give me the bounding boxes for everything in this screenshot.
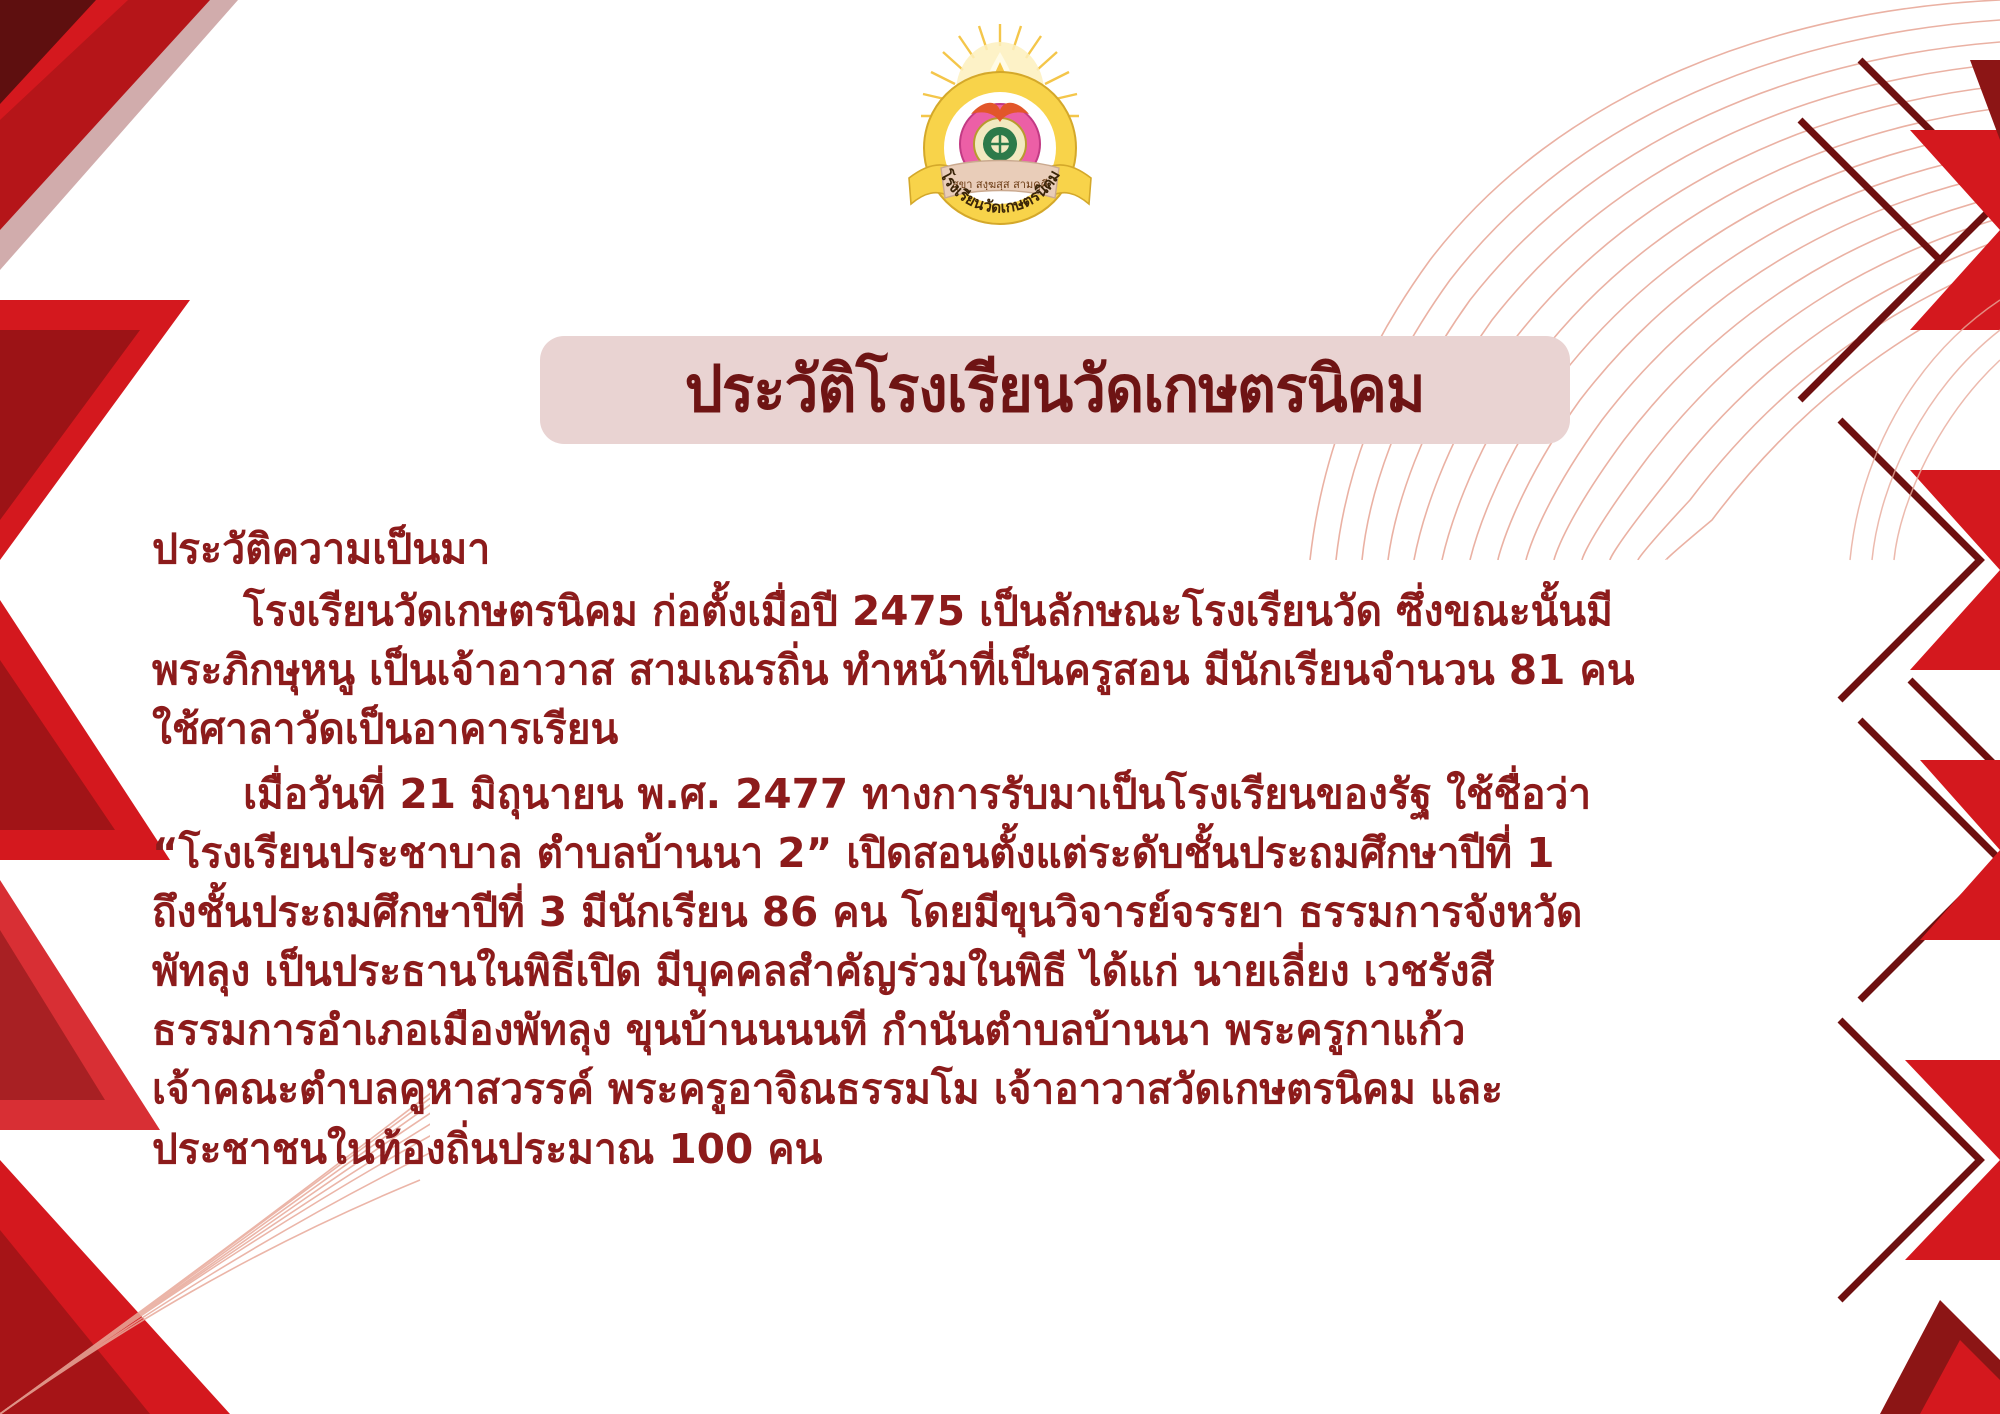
body-line: ถึงชั้นประถมศึกษาปีที่ 3 มีนักเรียน 86 ค… [152, 883, 1607, 942]
poster-canvas: สุขา สงฺฆสฺส สามคฺคี โรงเรียนวัดเกษตรนิค… [0, 0, 2000, 1414]
body-line: “โรงเรียนประชาบาล ตำบลบ้านนา 2” เปิดสอนต… [152, 824, 1607, 883]
body-line: พัทลุง เป็นประธานในพิธีเปิด มีบุคคลสำคัญ… [152, 942, 1607, 1001]
body-line: โรงเรียนวัดเกษตรนิคม ก่อตั้งเมื่อปี 2475… [152, 582, 1607, 641]
section-heading: ประวัติความเป็นมา [152, 520, 1622, 578]
body-line: เมื่อวันที่ 21 มิถุนายน พ.ศ. 2477 ทางการ… [152, 765, 1607, 824]
arc-line-pattern [1000, 0, 2000, 560]
school-emblem: สุขา สงฺฆสฺส สามคฺคี โรงเรียนวัดเกษตรนิค… [875, 18, 1125, 268]
body-line: ประชาชนในท้องถิ่นประมาณ 100 คน [152, 1120, 1607, 1179]
body-line: พระภิกษุหนู เป็นเจ้าอาวาส สามเณรถิ่น ทำห… [152, 641, 1607, 700]
body-line: เจ้าคณะตำบลคูหาสวรรค์ พระครูอาจิณธรรมโม … [152, 1060, 1607, 1119]
page-title-band: ประวัติโรงเรียนวัดเกษตรนิคม [540, 336, 1570, 444]
page-title: ประวัติโรงเรียนวัดเกษตรนิคม [685, 358, 1425, 422]
body-content: ประวัติความเป็นมา โรงเรียนวัดเกษตรนิคม ก… [152, 520, 1622, 1179]
body-line: ธรรมการอำเภอเมืองพัทลุง ขุนบ้านนนนที กำน… [152, 1001, 1607, 1060]
body-line: ใช้ศาลาวัดเป็นอาคารเรียน [152, 700, 1607, 759]
